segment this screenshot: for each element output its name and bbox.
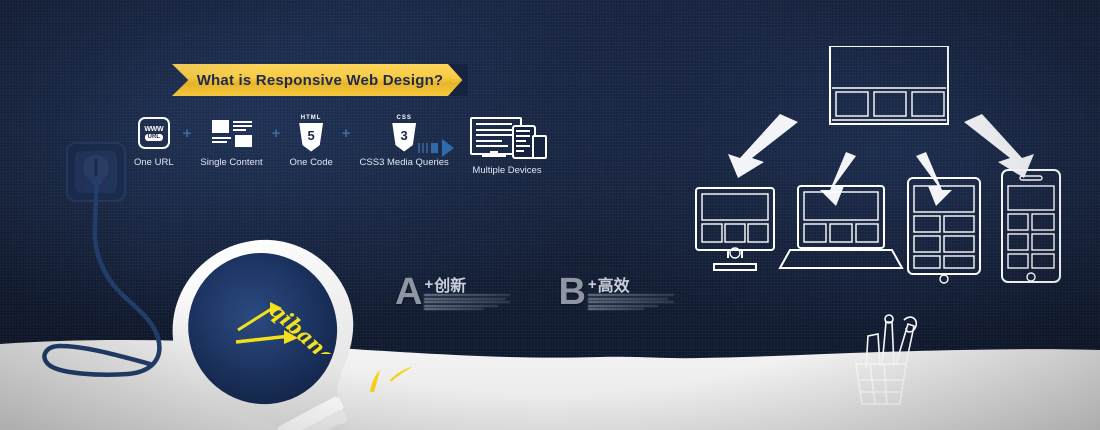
hero-banner: What is Responsive Web Design? WWW URL O… <box>0 0 1100 430</box>
result-arrow-icon <box>418 139 454 157</box>
plus-separator: + <box>183 125 192 142</box>
formula-item-one-url: WWW URL One URL <box>134 116 174 168</box>
css3-tag-label: CSS <box>396 115 411 121</box>
advantage-body-placeholder <box>588 294 674 310</box>
advantage-letter: B <box>558 275 585 309</box>
section-ribbon: What is Responsive Web Design? <box>172 64 468 96</box>
arrow-head <box>442 139 454 157</box>
formula-label-one-url: One URL <box>134 157 174 168</box>
formula-item-one-code: HTML 5 One Code <box>289 116 332 168</box>
advantages-block: A + 创新 B + 高效 <box>395 275 674 312</box>
advantage-plus: + <box>588 277 597 293</box>
url-box-url-label: URL <box>145 134 163 141</box>
advantage-plus: + <box>424 277 433 293</box>
html5-digit: 5 <box>308 129 315 142</box>
page-title: What is Responsive Web Design? <box>181 72 460 89</box>
device-phone <box>1002 170 1060 282</box>
html5-tag-label: HTML <box>301 115 322 121</box>
formula-label-multiple-devices: Multiple Devices <box>472 165 541 176</box>
advantage-title: 创新 <box>434 277 466 294</box>
pencil-cup-sketch <box>838 306 948 410</box>
url-box-icon: WWW URL <box>138 116 170 150</box>
device-laptop <box>780 186 902 268</box>
document-layout-icon <box>212 116 252 150</box>
source-wireframe <box>830 46 948 124</box>
formula-label-css3: CSS3 Media Queries <box>360 157 449 168</box>
formula-label-single-content: Single Content <box>200 157 262 168</box>
css3-shield-icon: CSS 3 <box>392 116 416 150</box>
arrow-motion-bars <box>418 143 428 153</box>
plus-separator: + <box>342 125 351 142</box>
formula-row: WWW URL One URL + Single Content <box>134 116 449 168</box>
formula-label-one-code: One Code <box>289 157 332 168</box>
advantage-body-placeholder <box>424 294 510 310</box>
advantage-title: 高效 <box>598 277 630 294</box>
advantage-a: A + 创新 <box>395 275 510 312</box>
formula-result-multiple-devices: Multiple Devices <box>470 116 544 176</box>
multiple-devices-icon <box>470 116 544 158</box>
device-monitor <box>696 188 774 270</box>
html5-shield-icon: HTML 5 <box>299 116 323 150</box>
plus-separator: + <box>272 125 281 142</box>
css3-digit: 3 <box>401 129 408 142</box>
url-box-www-label: WWW <box>144 126 163 133</box>
lightbulb-logo <box>120 236 410 430</box>
advantage-b: B + 高效 <box>558 275 673 312</box>
responsive-devices-diagram <box>680 46 1100 306</box>
arrow-tail <box>431 143 438 153</box>
spark-marks <box>360 358 420 398</box>
formula-item-single-content: Single Content <box>200 116 262 168</box>
